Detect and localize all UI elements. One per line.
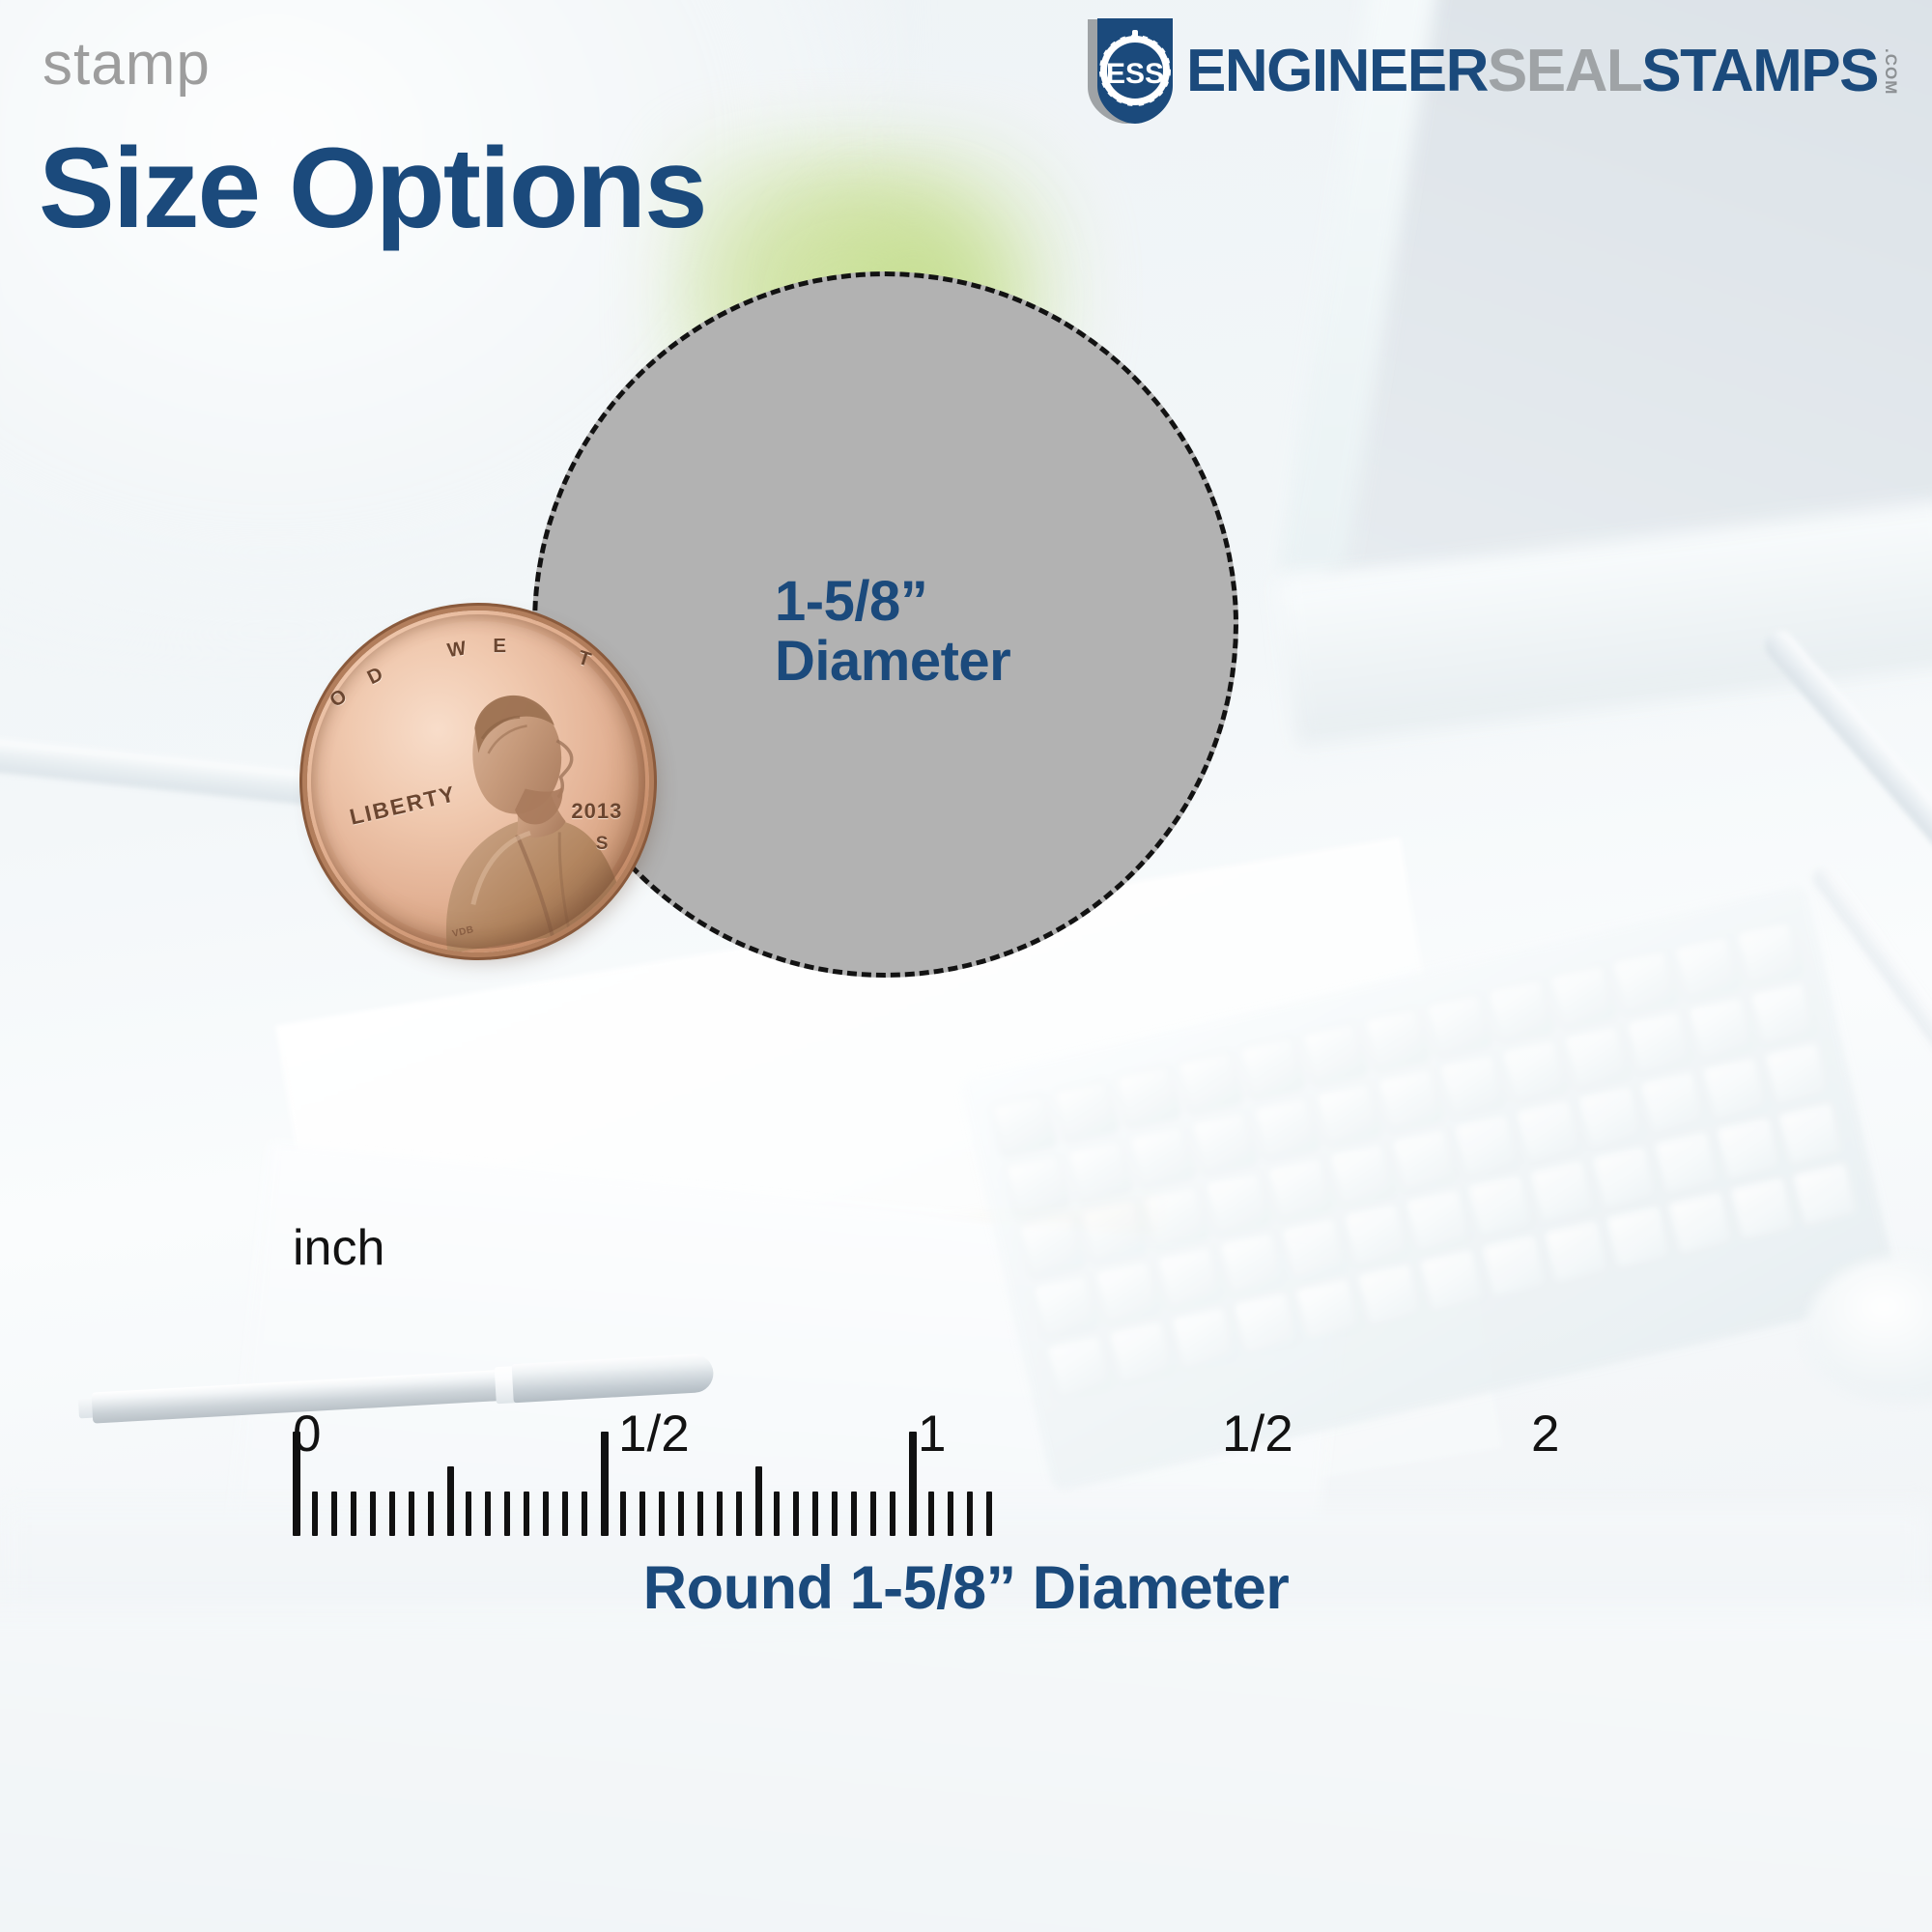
ruler-tick-half [447,1466,454,1536]
ruler-tick-minor [409,1492,414,1536]
page-title: Size Options [39,131,706,245]
ruler-tick-minor [639,1492,645,1536]
background-desk-lower [0,1604,1932,1932]
ruler-tick-minor [812,1492,818,1536]
ruler-tick-minor [428,1492,434,1536]
size-preview-circle: 1-5/8” Diameter [532,271,1238,978]
ruler-tick-minor [717,1492,723,1536]
ruler-tick-major [909,1432,917,1536]
ruler-tick-minor [928,1492,934,1536]
ruler-tick-minor [678,1492,684,1536]
ruler-label: 1 [918,1408,946,1460]
ruler-tick-minor [774,1492,780,1536]
penny-mint-mark: S [596,834,609,855]
wordmark-engineer: ENGINEER [1186,42,1488,101]
ruler-tick-minor [736,1492,742,1536]
brand-logo[interactable]: ESS ENGINEER SEAL STAMPS .COM [869,15,1899,128]
ruler-tick-minor [331,1492,337,1536]
ruler-label: 0 [293,1408,321,1460]
ruler-tick-minor [504,1492,510,1536]
ruler-label: 2 [1531,1408,1559,1460]
wordmark-tld: .COM [1883,48,1899,95]
ruler-tick-minor [466,1492,471,1536]
penny-year-text: 2013 [571,799,622,824]
ruler-tick-minor [967,1492,973,1536]
ruler-tick-minor [582,1492,587,1536]
ruler-tick-minor [890,1492,895,1536]
kicker-label: stamp [43,35,211,95]
ruler-tick-minor [697,1492,703,1536]
dimension-unit: Diameter [775,632,1234,693]
ruler-tick-minor [620,1492,626,1536]
ruler-tick-minor [986,1492,992,1536]
brand-wordmark: ENGINEER SEAL STAMPS .COM [1186,42,1899,101]
ruler-tick-minor [793,1492,799,1536]
ruler-tick-minor [832,1492,838,1536]
ruler-tick-minor [351,1492,356,1536]
product-size-caption: Round 1-5/8” Diameter [0,1553,1932,1623]
ruler-label: 1/2 [1222,1408,1293,1460]
ruler-unit-label: inch [293,1219,384,1277]
dimension-value: 1-5/8” [775,571,1234,632]
ruler-tick-minor [524,1492,529,1536]
ruler-tick-major [601,1432,609,1536]
ruler-tick-minor [485,1492,491,1536]
ruler-tick-half [755,1466,762,1536]
ruler-tick-minor [312,1492,318,1536]
ess-seal-badge-icon: ESS [1072,15,1180,128]
wordmark-seal: SEAL [1488,42,1641,101]
ruler-tick-minor [870,1492,876,1536]
ruler-tick-minor [562,1492,568,1536]
ruler-label: 1/2 [618,1408,690,1460]
infographic-canvas: stamp Size Options ESS [0,0,1932,1932]
size-dimension-label: 1-5/8” Diameter [537,571,1234,692]
ruler-tick-minor [370,1492,376,1536]
wordmark-stamps: STAMPS [1641,42,1878,101]
ruler-tick-minor [389,1492,395,1536]
ruler-tick-minor [659,1492,665,1536]
ruler-tick-minor [543,1492,549,1536]
inch-ruler: inch 01/211/22 [0,1256,1932,1536]
ruler-tick-minor [948,1492,953,1536]
ess-badge-text: ESS [1106,58,1164,90]
ruler-tick-minor [851,1492,857,1536]
